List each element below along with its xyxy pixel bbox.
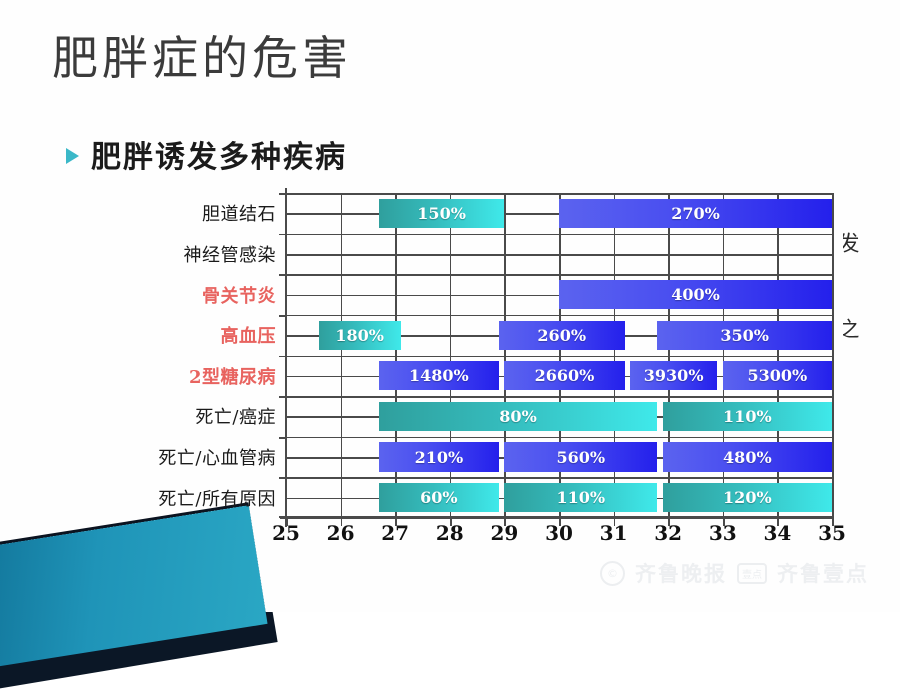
y-axis-tick: [279, 396, 287, 398]
bar-segment: 480%: [663, 442, 832, 471]
y-axis-category-label: 高血压: [221, 322, 277, 348]
chart-y-axis-line: [285, 188, 287, 527]
subtitle-row: 肥胖诱发多种疾病: [66, 132, 347, 176]
triangle-right-icon: [66, 148, 79, 164]
slide-canvas: 肥胖症的危害 肥胖诱发多种疾病 胆道结石神经管感染骨关节炎高血压2型糖尿病死亡/…: [0, 0, 900, 612]
x-axis-tick: [395, 518, 397, 526]
x-axis-tick: [286, 518, 288, 526]
x-axis-tick: [341, 518, 343, 526]
bar-segment: 3930%: [630, 361, 717, 390]
chart-bar-row: 150%270%: [286, 199, 832, 228]
bar-segment: 2660%: [504, 361, 624, 390]
y-axis-tick: [279, 193, 287, 195]
y-axis-category-label: 2型糖尿病: [189, 363, 276, 389]
bar-segment: 120%: [663, 483, 832, 512]
x-axis-tick: [777, 518, 779, 526]
watermark: © 齐鲁晚报 壹点 齐鲁壹点: [600, 558, 869, 588]
x-axis-tick: [832, 518, 834, 526]
bar-segment: 400%: [559, 280, 832, 309]
chart-bar-row: 180%260%350%: [286, 321, 832, 350]
y-axis-tick: [279, 234, 287, 236]
y-axis-tick: [279, 315, 287, 317]
bar-segment: 110%: [663, 402, 832, 431]
y-axis-category-label: 死亡/所有原因: [158, 485, 276, 511]
edge-glyph-top: 发: [843, 232, 863, 253]
y-axis-tick: [279, 437, 287, 439]
bar-segment: 210%: [379, 442, 499, 471]
bar-segment: 180%: [319, 321, 401, 350]
watermark-name-2: 齐鲁壹点: [777, 558, 869, 588]
y-axis-tick: [279, 477, 287, 479]
x-axis-tick: [450, 518, 452, 526]
bar-segment: 560%: [504, 442, 657, 471]
y-axis-category-label: 胆道结石: [202, 200, 276, 226]
chart-plot-area: 150%270%400%180%260%350%1480%2660%3930%5…: [286, 193, 832, 518]
chart-bar-rows: 150%270%400%180%260%350%1480%2660%3930%5…: [286, 193, 832, 518]
x-axis-tick: [559, 518, 561, 526]
subtitle-text: 肥胖诱发多种疾病: [91, 132, 347, 176]
chart-bar-row: 210%560%480%: [286, 442, 832, 471]
chart-bar-row: 80%110%: [286, 402, 832, 431]
y-axis-tick: [279, 274, 287, 276]
bar-segment: 60%: [379, 483, 499, 512]
x-axis-tick: [668, 518, 670, 526]
bar-segment: 80%: [379, 402, 657, 431]
chart-bar-row: 60%110%120%: [286, 483, 832, 512]
chart-x-axis-line: [280, 517, 832, 519]
bar-segment: 5300%: [723, 361, 832, 390]
bar-segment: 150%: [379, 199, 505, 228]
chart-y-axis-labels: 胆道结石神经管感染骨关节炎高血压2型糖尿病死亡/癌症死亡/心血管病死亡/所有原因: [0, 193, 284, 518]
y-axis-category-label: 死亡/癌症: [195, 403, 276, 429]
y-axis-tick: [279, 356, 287, 358]
y-axis-category-label: 死亡/心血管病: [158, 444, 276, 470]
chart-bar-row: 1480%2660%3930%5300%: [286, 361, 832, 390]
bar-segment: 1480%: [379, 361, 499, 390]
watermark-box-icon: 壹点: [737, 563, 767, 584]
watermark-name-1: 齐鲁晚报: [635, 558, 727, 588]
y-axis-category-label: 神经管感染: [184, 241, 277, 267]
chart-bar-row: [286, 239, 832, 268]
bar-segment: 270%: [559, 199, 832, 228]
bar-segment: 260%: [499, 321, 625, 350]
x-axis-tick: [723, 518, 725, 526]
edge-glyph-bottom: 之: [843, 318, 863, 339]
copyright-icon: ©: [600, 561, 625, 586]
gridline-vertical: [832, 193, 834, 518]
page-title: 肥胖症的危害: [52, 22, 352, 88]
bar-segment: 110%: [504, 483, 657, 512]
chart-bar-row: 400%: [286, 280, 832, 309]
y-axis-tick: [279, 516, 287, 518]
y-axis-category-label: 骨关节炎: [202, 282, 276, 308]
x-axis-tick: [614, 518, 616, 526]
x-axis-tick: [504, 518, 506, 526]
bar-segment: 350%: [657, 321, 832, 350]
